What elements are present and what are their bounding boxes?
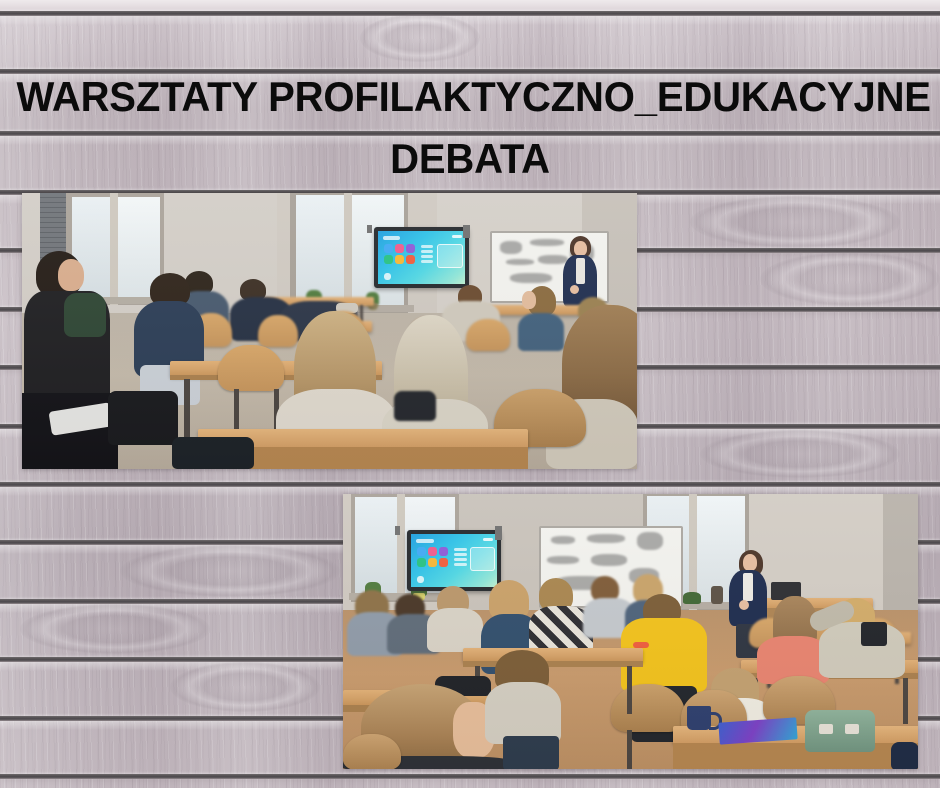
- wood-knot: [360, 14, 480, 62]
- photo-2-scene: [343, 494, 918, 769]
- wood-knot: [120, 545, 340, 597]
- wood-knot: [760, 252, 940, 306]
- wood-knot: [170, 662, 320, 712]
- title-line-1: WARSZTATY PROFILAKTYCZNO_EDUKACYJNE: [16, 72, 923, 122]
- title-line-2: DEBATA: [16, 134, 923, 184]
- plank-seam: [0, 11, 940, 16]
- plank-seam: [0, 774, 940, 779]
- classroom-photo-1[interactable]: [22, 193, 637, 469]
- photo-tone-overlay: [22, 193, 637, 469]
- classroom-photo-2[interactable]: [343, 494, 918, 769]
- wood-knot: [20, 604, 210, 654]
- wood-knot: [700, 430, 900, 478]
- wood-knot: [690, 196, 900, 248]
- photo-1-scene: [22, 193, 637, 469]
- poster-title: WARSZTATY PROFILAKTYCZNO_EDUKACYJNE DEBA…: [0, 72, 940, 184]
- plank-highlight: [0, 16, 940, 25]
- photo-tone-overlay: [343, 494, 918, 769]
- plank-seam: [0, 482, 940, 487]
- poster-canvas: WARSZTATY PROFILAKTYCZNO_EDUKACYJNE DEBA…: [0, 0, 940, 788]
